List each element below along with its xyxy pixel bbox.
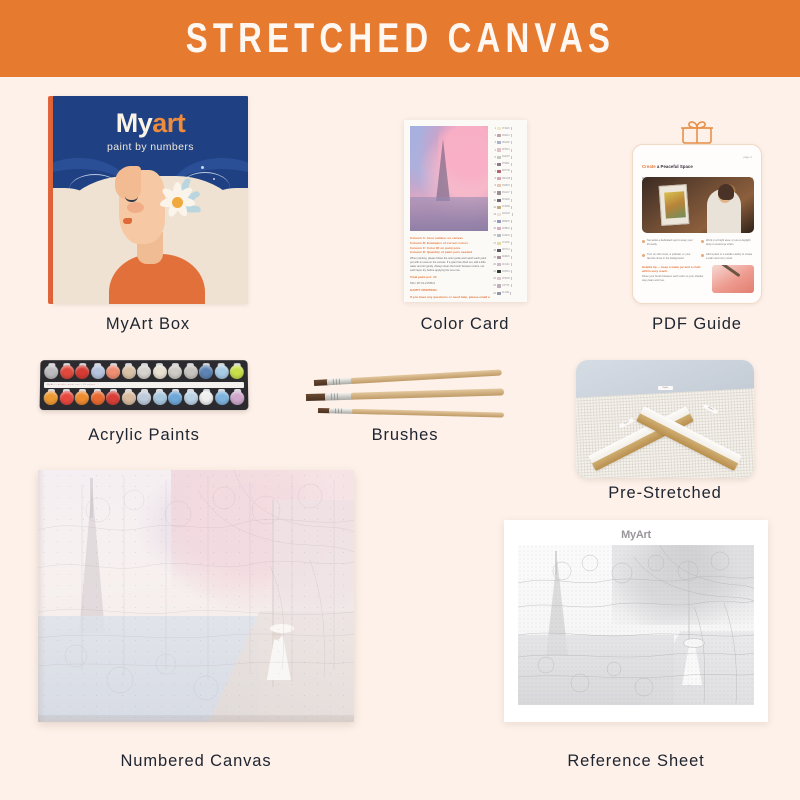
color-swatch-list: 10T102320R221130B110840P331450G220760T99… bbox=[492, 127, 522, 295]
paint-tray-label-text: MyArt • acrylic paint set • 24 colors bbox=[44, 384, 95, 386]
paint-pot bbox=[59, 389, 73, 407]
paint-pot bbox=[199, 363, 213, 381]
pdf-footer-body: Rinse your brush between each color so y… bbox=[642, 275, 707, 284]
numbered-canvas-image bbox=[38, 470, 354, 722]
paint-pot bbox=[199, 389, 213, 407]
swatch-number: 13 bbox=[492, 213, 496, 216]
swatch-code: 0P8834 bbox=[502, 228, 510, 230]
swatch-color-chip bbox=[497, 191, 500, 194]
illustration-lips bbox=[123, 218, 132, 224]
color-swatch-row: 100N1147 bbox=[492, 191, 522, 194]
color-swatch-row: 10T1023 bbox=[492, 127, 522, 130]
caption-myart-box: MyArt Box bbox=[48, 315, 248, 334]
header-banner: STRETCHED CANVAS bbox=[0, 0, 800, 77]
paint-pot-color bbox=[168, 365, 182, 379]
swatch-quantity-tick bbox=[511, 170, 512, 173]
paint-pot bbox=[60, 363, 74, 381]
swatch-quantity-tick bbox=[511, 127, 512, 130]
swatch-quantity-tick bbox=[511, 227, 512, 230]
bullet-dot-icon bbox=[701, 240, 704, 243]
paint-pot-color bbox=[153, 391, 167, 405]
paint-pot bbox=[106, 389, 120, 407]
swatch-code: 0Y1130 bbox=[502, 242, 509, 244]
color-swatch-row: 160A2218 bbox=[492, 234, 522, 237]
paint-pot-color bbox=[152, 365, 166, 379]
swatch-quantity-tick bbox=[511, 163, 512, 166]
caption-numbered-canvas: Numbered Canvas bbox=[38, 752, 354, 771]
canvas-left-edge bbox=[38, 470, 45, 722]
color-swatch-row: 70R7740 bbox=[492, 170, 522, 173]
swatch-number: 19 bbox=[492, 256, 496, 259]
brush-bristle bbox=[306, 393, 326, 401]
bullet-dot-icon bbox=[642, 254, 645, 257]
swatch-code: 0R2211 bbox=[502, 135, 510, 137]
paint-pot bbox=[230, 389, 244, 407]
paint-pot-color bbox=[106, 365, 120, 379]
scene-region-numbers bbox=[38, 470, 354, 722]
swatch-code: 0R7740 bbox=[502, 170, 510, 172]
paint-pot-color bbox=[215, 391, 229, 405]
paint-pot-color bbox=[122, 365, 136, 379]
color-swatch-row: 220H3309 bbox=[492, 277, 522, 280]
swatch-code: 0T9961 bbox=[502, 163, 510, 165]
swatch-code: 0G2207 bbox=[502, 156, 510, 158]
paint-pot-color bbox=[44, 365, 58, 379]
swatch-number: 6 bbox=[492, 163, 496, 166]
reference-sheet-image: MyArt bbox=[504, 520, 768, 722]
product-infographic: STRETCHED CANVAS Myart paint by numbers bbox=[0, 0, 800, 800]
brushes-image bbox=[300, 368, 510, 426]
pre-stretched-photo: MyArt MyArt MyArt bbox=[576, 360, 754, 478]
brush-handle bbox=[351, 388, 504, 399]
paint-pot bbox=[106, 363, 120, 381]
color-swatch-row: 240L1190 bbox=[492, 292, 522, 295]
paint-pot-color bbox=[106, 391, 120, 405]
reference-artwork bbox=[518, 545, 754, 705]
caption-reference-sheet: Reference Sheet bbox=[504, 752, 768, 771]
photo-easel bbox=[659, 184, 690, 226]
swatch-quantity-tick bbox=[511, 220, 512, 223]
pdf-heading-main: a Peaceful Space bbox=[656, 164, 693, 169]
color-swatch-row: 60T9961 bbox=[492, 163, 522, 166]
paint-pot bbox=[44, 363, 58, 381]
swatch-code: 0S5523 bbox=[502, 185, 510, 187]
brush-ferrule bbox=[325, 393, 353, 401]
color-swatch-row: 210G5521 bbox=[492, 270, 522, 273]
bullet-dot-icon bbox=[701, 254, 704, 257]
pdf-bullet-item: Turn on soft music, a podcast, or your f… bbox=[642, 253, 695, 262]
contact-label: If you have any questions or need help, … bbox=[410, 295, 490, 300]
bullet-text: Turn on soft music, a podcast, or your f… bbox=[647, 253, 695, 262]
sparkle-dot-2 bbox=[213, 178, 215, 180]
color-card-sheet: Column A: Area number on canvas Column B… bbox=[404, 120, 527, 302]
myart-box-image: Myart paint by numbers bbox=[48, 96, 248, 304]
paint-pot-color bbox=[137, 365, 151, 379]
color-swatch-row: 130W4417 bbox=[492, 213, 522, 216]
color-swatch-row: 50G2207 bbox=[492, 156, 522, 159]
color-card-instructions: Column A: Area number on canvas Column B… bbox=[410, 236, 490, 300]
swatch-number: 9 bbox=[492, 184, 496, 187]
acrylic-paints-tray: MyArt • acrylic paint set • 24 colors bbox=[40, 360, 249, 410]
swatch-quantity-tick bbox=[511, 199, 512, 202]
paint-pot bbox=[168, 389, 182, 407]
color-swatch-row: 110K2296 bbox=[492, 199, 522, 202]
color-swatch-row: 150P8834 bbox=[492, 227, 522, 230]
swatch-number: 15 bbox=[492, 227, 496, 230]
paint-pot bbox=[184, 389, 198, 407]
paint-pot bbox=[137, 363, 151, 381]
swatch-number: 20 bbox=[492, 263, 496, 266]
swatch-code: 0M4418 bbox=[502, 178, 510, 180]
color-swatch-row: 200F1144 bbox=[492, 263, 522, 266]
paint-pot-color bbox=[90, 391, 104, 405]
swatch-number: 1 bbox=[492, 127, 496, 130]
swatch-quantity-tick bbox=[511, 156, 512, 159]
swatch-code: 0H3309 bbox=[502, 278, 510, 280]
swatch-code: 0N1147 bbox=[502, 192, 510, 194]
paint-pot bbox=[75, 363, 89, 381]
color-swatch-row: 20R2211 bbox=[492, 134, 522, 137]
swatch-quantity-tick bbox=[511, 149, 512, 152]
brand-name-art: art bbox=[152, 108, 185, 138]
swatch-code: 0B1108 bbox=[502, 142, 509, 144]
swatch-code: 0D7712 bbox=[502, 249, 510, 251]
happy-painting-label: HAPPY PAINTING! bbox=[410, 288, 490, 293]
pdf-bullet-columns: Set aside a dedicated spot to keep your … bbox=[642, 239, 754, 266]
paint-pot bbox=[152, 363, 166, 381]
swatch-code: 0K2296 bbox=[502, 199, 510, 201]
swatch-code: 0G5521 bbox=[502, 271, 510, 273]
swatch-quantity-tick bbox=[511, 270, 512, 273]
pdf-guide-image: page 1 Create a Peaceful Space Painting … bbox=[632, 118, 762, 304]
swatch-color-chip bbox=[497, 127, 500, 130]
paint-pot bbox=[90, 389, 104, 407]
swatch-color-chip bbox=[497, 213, 500, 216]
paint-pot-color bbox=[184, 391, 198, 405]
pdf-footer-title: Helpful tip — keep a water jar and a clo… bbox=[642, 265, 707, 273]
swatch-code: 0A2218 bbox=[502, 235, 510, 237]
pdf-guide-page: page 1 Create a Peaceful Space Painting … bbox=[632, 144, 762, 304]
swatch-number: 5 bbox=[492, 156, 496, 159]
paint-tray-label: MyArt • acrylic paint set • 24 colors bbox=[44, 382, 244, 388]
swatch-color-chip bbox=[497, 199, 500, 202]
paint-pot-color bbox=[75, 391, 89, 405]
paint-pot-color bbox=[199, 391, 213, 405]
brush-1 bbox=[314, 370, 502, 386]
color-swatch-row: 80M4418 bbox=[492, 177, 522, 180]
swatch-color-chip bbox=[497, 148, 500, 151]
brand-tagline: paint by numbers bbox=[53, 141, 248, 153]
color-swatch-row: 230J7715 bbox=[492, 284, 522, 287]
swatch-quantity-tick bbox=[511, 256, 512, 259]
swatch-color-chip bbox=[497, 220, 500, 223]
reference-texture bbox=[518, 545, 754, 705]
paint-pot-color bbox=[91, 365, 105, 379]
pdf-footer-image bbox=[712, 265, 754, 293]
swatch-quantity-tick bbox=[511, 184, 512, 187]
color-swatch-row: 190E9920 bbox=[492, 256, 522, 259]
brush-ferrule bbox=[327, 378, 353, 385]
swatch-code: 0P3314 bbox=[502, 149, 510, 151]
color-swatch-row: 120C3380 bbox=[492, 206, 522, 209]
paint-pot-color bbox=[230, 391, 244, 405]
swatch-number: 8 bbox=[492, 177, 496, 180]
swatch-number: 22 bbox=[492, 277, 496, 280]
instruction-body: When painting, please follow the color g… bbox=[410, 257, 490, 273]
swatch-color-chip bbox=[497, 177, 500, 180]
swatch-code: 0J7715 bbox=[502, 285, 509, 287]
paint-pot bbox=[137, 389, 151, 407]
swatch-color-chip bbox=[497, 163, 500, 166]
swatch-code: 0E9920 bbox=[502, 256, 510, 258]
swatch-number: 24 bbox=[492, 292, 496, 295]
color-card-image: Column A: Area number on canvas Column B… bbox=[404, 120, 527, 302]
paint-pot bbox=[153, 389, 167, 407]
swatch-quantity-tick bbox=[511, 242, 512, 245]
swatch-quantity-tick bbox=[511, 277, 512, 280]
swatch-code: 0T1023 bbox=[502, 128, 510, 130]
artwork-river bbox=[410, 197, 488, 231]
swatch-color-chip bbox=[497, 206, 500, 209]
swatch-color-chip bbox=[497, 227, 500, 230]
brush-3 bbox=[318, 408, 504, 418]
pdf-photo-painter bbox=[642, 177, 754, 233]
paint-pot bbox=[121, 389, 135, 407]
swatch-quantity-tick bbox=[511, 206, 512, 209]
swatch-number: 11 bbox=[492, 199, 496, 202]
swatch-number: 18 bbox=[492, 249, 496, 252]
paint-pot-color bbox=[59, 391, 73, 405]
swatch-code: 0W4417 bbox=[502, 213, 510, 215]
swatch-quantity-tick bbox=[511, 234, 512, 237]
paint-pot-color bbox=[168, 391, 182, 405]
brush-handle bbox=[351, 370, 502, 384]
swatch-color-chip bbox=[497, 134, 500, 137]
color-swatch-row: 170Y1130 bbox=[492, 242, 522, 245]
brush-handle bbox=[352, 409, 504, 418]
color-swatch-row: 90S5523 bbox=[492, 184, 522, 187]
bullet-text: Add a plant or a candle nearby to create… bbox=[706, 253, 754, 262]
pdf-bullet-item: Add a plant or a candle nearby to create… bbox=[701, 253, 754, 262]
paint-pot-row-top bbox=[44, 363, 244, 381]
swatch-color-chip bbox=[497, 141, 500, 144]
paint-pot bbox=[230, 363, 244, 381]
canvas-bottom-edge bbox=[38, 715, 354, 722]
caption-color-card: Color Card bbox=[400, 315, 530, 334]
pdf-bullets-right: Work in a bright area, or use a daylight… bbox=[701, 239, 754, 266]
bullet-text: Work in a bright area, or use a daylight… bbox=[706, 239, 754, 248]
swatch-color-chip bbox=[497, 249, 500, 252]
paint-pot bbox=[214, 363, 228, 381]
swatch-code: 0F1144 bbox=[502, 264, 509, 266]
paint-pot bbox=[168, 363, 182, 381]
color-swatch-row: 180D7712 bbox=[492, 249, 522, 252]
pdf-bullet-item: Work in a bright area, or use a daylight… bbox=[701, 239, 754, 248]
bullet-text: Set aside a dedicated spot to keep your … bbox=[647, 239, 695, 248]
photo-easel-artwork bbox=[664, 191, 686, 218]
paint-pot bbox=[183, 363, 197, 381]
flower-core bbox=[172, 197, 183, 208]
paint-pot-color bbox=[183, 365, 197, 379]
paint-pot bbox=[215, 389, 229, 407]
illustration-cheek bbox=[127, 202, 144, 213]
page-title: STRETCHED CANVAS bbox=[185, 15, 614, 62]
swatch-quantity-tick bbox=[510, 292, 511, 295]
swatch-code: 0C3380 bbox=[502, 206, 510, 208]
swatch-number: 21 bbox=[492, 270, 496, 273]
caption-pre-stretched: Pre-Stretched bbox=[576, 484, 754, 503]
paint-pot-color bbox=[44, 391, 58, 405]
color-card-artwork bbox=[410, 126, 488, 231]
swatch-quantity-tick bbox=[511, 191, 512, 194]
swatch-number: 17 bbox=[492, 242, 496, 245]
swatch-number: 4 bbox=[492, 149, 496, 152]
swatch-code: 0B6625 bbox=[502, 221, 510, 223]
swatch-color-chip bbox=[497, 234, 500, 237]
swatch-number: 23 bbox=[492, 284, 496, 287]
brush-ferrule bbox=[329, 408, 354, 414]
instruction-line-d: Column D: Quantity of paint pots needed bbox=[410, 250, 490, 255]
swatch-quantity-tick bbox=[512, 213, 513, 216]
pdf-bullets-left: Set aside a dedicated spot to keep your … bbox=[642, 239, 695, 266]
swatch-quantity-tick bbox=[511, 249, 512, 252]
pdf-heading-accent: Create bbox=[642, 164, 656, 169]
swatch-color-chip bbox=[497, 263, 500, 266]
swatch-quantity-tick bbox=[511, 177, 512, 180]
photo-person-hair bbox=[718, 184, 734, 200]
swatch-number: 12 bbox=[492, 206, 496, 209]
brand-logo: Myart paint by numbers bbox=[53, 108, 248, 153]
swatch-code: 0L1190 bbox=[502, 292, 509, 294]
caption-brushes: Brushes bbox=[300, 426, 510, 445]
swatch-number: 14 bbox=[492, 220, 496, 223]
brand-name-my: My bbox=[116, 108, 153, 138]
pdf-footer-tip: Helpful tip — keep a water jar and a clo… bbox=[642, 265, 754, 293]
paint-pot bbox=[75, 389, 89, 407]
artwork-eiffel-tower bbox=[436, 139, 450, 201]
pdf-bullet-item: Set aside a dedicated spot to keep your … bbox=[642, 239, 695, 248]
bullet-dot-icon bbox=[642, 240, 645, 243]
swatch-number: 7 bbox=[492, 170, 496, 173]
brush-2 bbox=[306, 388, 504, 401]
caption-acrylic-paints: Acrylic Paints bbox=[40, 426, 248, 445]
swatch-color-chip bbox=[497, 292, 500, 295]
paint-pot-color bbox=[137, 391, 151, 405]
swatch-quantity-tick bbox=[511, 134, 512, 137]
swatch-number: 16 bbox=[492, 234, 496, 237]
sku-label: SKU: MY-01-2178011 bbox=[410, 282, 490, 286]
canvas-scene bbox=[38, 470, 354, 722]
paint-pot bbox=[44, 389, 58, 407]
swatch-color-chip bbox=[497, 256, 500, 259]
sparkle-dot-1 bbox=[201, 166, 204, 169]
swatch-color-chip bbox=[497, 277, 500, 280]
total-paint-pot: Total paint pot: 24 bbox=[410, 275, 490, 280]
swatch-number: 10 bbox=[492, 191, 496, 194]
paint-pot-color bbox=[121, 391, 135, 405]
paint-pot-color bbox=[60, 365, 74, 379]
paint-pot bbox=[91, 363, 105, 381]
swatch-number: 3 bbox=[492, 141, 496, 144]
paint-pot-color bbox=[75, 365, 89, 379]
swatch-color-chip bbox=[497, 270, 500, 273]
color-swatch-row: 40P3314 bbox=[492, 148, 522, 151]
color-swatch-row: 140B6625 bbox=[492, 220, 522, 223]
flower-icon bbox=[157, 178, 205, 226]
swatch-quantity-tick bbox=[511, 284, 512, 287]
reference-sheet-logo: MyArt bbox=[518, 529, 754, 541]
canvas-tag-top: MyArt bbox=[658, 386, 673, 390]
paint-pot bbox=[122, 363, 136, 381]
pdf-footer-text: Helpful tip — keep a water jar and a clo… bbox=[642, 265, 707, 293]
color-swatch-row: 30B1108 bbox=[492, 141, 522, 144]
box-front-face: Myart paint by numbers bbox=[53, 96, 248, 304]
swatch-color-chip bbox=[497, 284, 500, 287]
paint-pot-color bbox=[230, 365, 244, 379]
swatch-quantity-tick bbox=[511, 141, 512, 144]
swatch-color-chip bbox=[497, 184, 500, 187]
illustration-fringe bbox=[115, 166, 141, 200]
paint-pot-color bbox=[214, 365, 228, 379]
swatch-quantity-tick bbox=[511, 263, 512, 266]
caption-pdf-guide: PDF Guide bbox=[632, 315, 762, 334]
paint-pot-row-bottom bbox=[44, 389, 245, 407]
swatch-color-chip bbox=[497, 170, 500, 173]
paint-pot-color bbox=[199, 365, 213, 379]
swatch-color-chip bbox=[497, 242, 500, 245]
swatch-number: 2 bbox=[492, 134, 496, 137]
swatch-color-chip bbox=[497, 156, 500, 159]
